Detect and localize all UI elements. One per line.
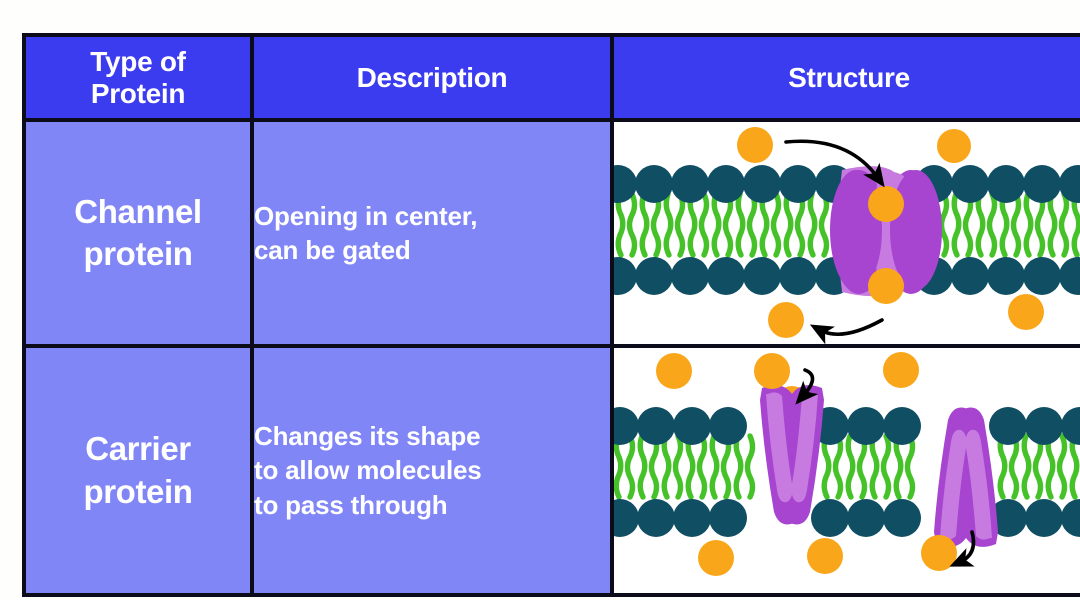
molecule bbox=[754, 353, 790, 389]
channel-protein-membrane-diagram bbox=[614, 122, 1080, 344]
desc-line-2: to allow molecules bbox=[254, 453, 610, 487]
header-line-1: Structure bbox=[614, 62, 1080, 93]
molecule bbox=[937, 129, 971, 163]
type-line-2: protein bbox=[26, 233, 250, 275]
type-line-1: Channel bbox=[26, 191, 250, 233]
molecule bbox=[737, 127, 773, 163]
molecule bbox=[868, 186, 904, 222]
molecule bbox=[768, 302, 804, 338]
desc-line-1: Opening in center, bbox=[254, 199, 610, 233]
table-body: Channel protein Opening in center, can b… bbox=[24, 120, 1080, 595]
molecule bbox=[921, 535, 957, 571]
desc-line-1: Changes its shape bbox=[254, 419, 610, 453]
column-header-type-of-protein: Type of Protein bbox=[24, 35, 252, 120]
column-header-description: Description bbox=[252, 35, 612, 120]
type-line-1: Carrier bbox=[26, 428, 250, 470]
table-header: Type of Protein Description Structure bbox=[24, 35, 1080, 120]
molecule bbox=[807, 538, 843, 574]
header-line-2: Protein bbox=[26, 78, 250, 109]
header-line-1: Description bbox=[254, 62, 610, 93]
cell-description-channel-protein: Opening in center, can be gated bbox=[252, 120, 612, 346]
cell-structure-channel-protein bbox=[612, 120, 1080, 346]
table-row: Carrier protein Changes its shape to all… bbox=[24, 346, 1080, 595]
membrane-protein-table: Type of Protein Description Structure Ch… bbox=[22, 33, 1080, 597]
cell-structure-carrier-protein bbox=[612, 346, 1080, 595]
molecule bbox=[698, 540, 734, 576]
desc-line-3: to pass through bbox=[254, 488, 610, 522]
molecule bbox=[1008, 294, 1044, 330]
table-row: Channel protein Opening in center, can b… bbox=[24, 120, 1080, 346]
header-row: Type of Protein Description Structure bbox=[24, 35, 1080, 120]
desc-line-2: can be gated bbox=[254, 233, 610, 267]
cell-type-carrier-protein: Carrier protein bbox=[24, 346, 252, 595]
screenshot-stage: Type of Protein Description Structure Ch… bbox=[0, 0, 1080, 600]
carrier-protein-membrane-diagram bbox=[614, 348, 1080, 593]
molecule bbox=[868, 268, 904, 304]
column-header-structure: Structure bbox=[612, 35, 1080, 120]
header-line-1: Type of bbox=[26, 46, 250, 77]
cell-description-carrier-protein: Changes its shape to allow molecules to … bbox=[252, 346, 612, 595]
molecule bbox=[883, 352, 919, 388]
cell-type-channel-protein: Channel protein bbox=[24, 120, 252, 346]
type-line-2: protein bbox=[26, 471, 250, 513]
molecule bbox=[656, 353, 692, 389]
